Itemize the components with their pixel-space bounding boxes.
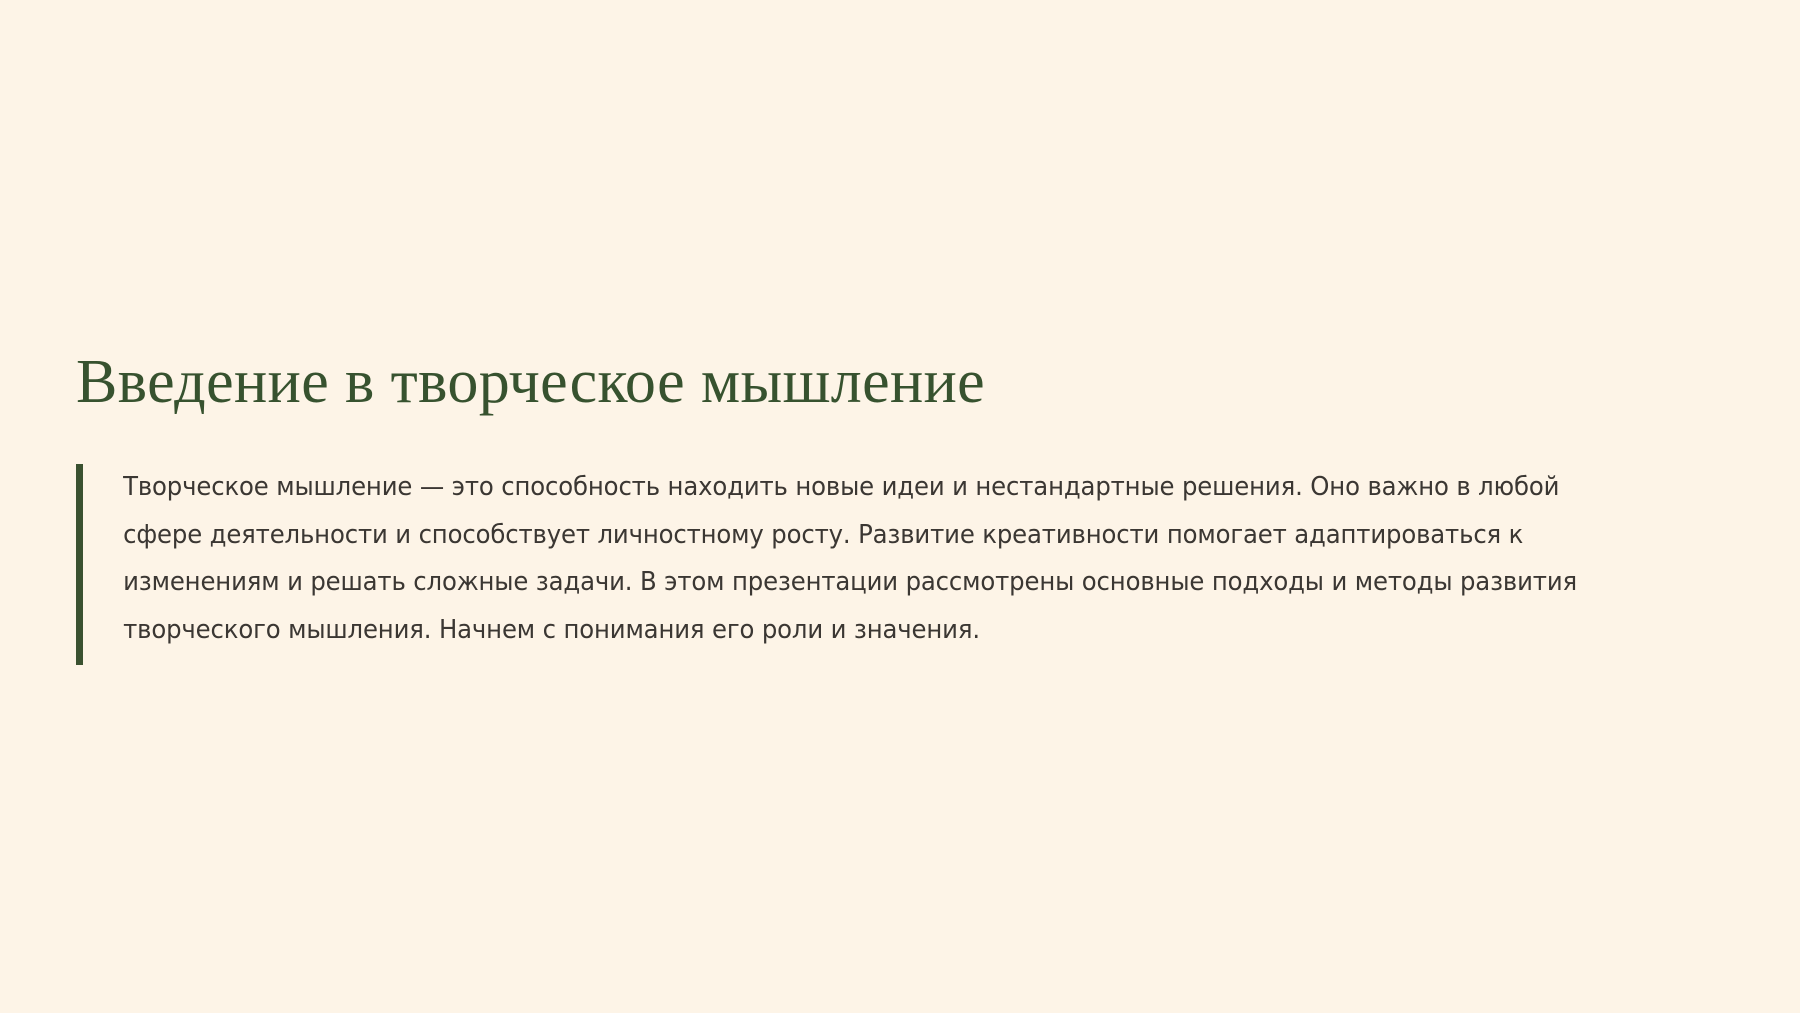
slide-title: Введение в творческое мышление — [76, 348, 985, 417]
left-accent-bar — [76, 464, 83, 665]
presentation-slide: Введение в творческое мышление Творческо… — [0, 0, 1800, 1013]
slide-body-paragraph: Творческое мышление — это способность на… — [83, 464, 1641, 665]
slide-body-block: Творческое мышление — это способность на… — [76, 464, 1756, 665]
